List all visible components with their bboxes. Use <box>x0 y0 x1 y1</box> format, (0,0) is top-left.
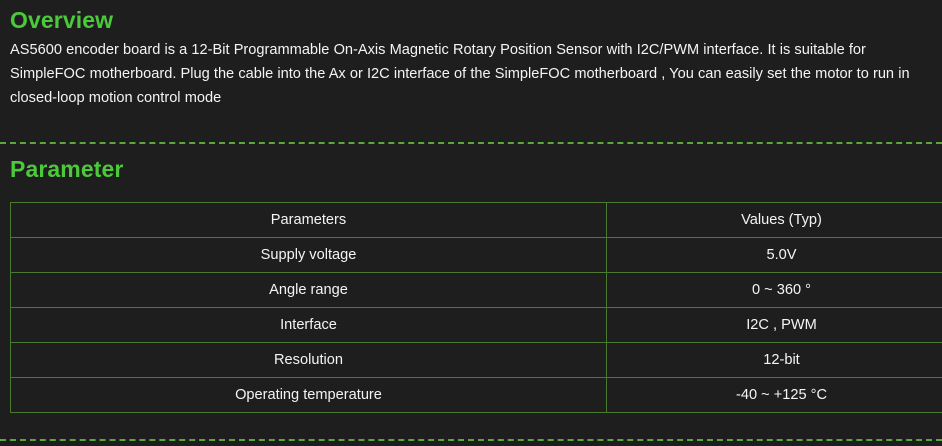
cell-parameter-value: 12-bit <box>607 343 942 378</box>
overview-section: Overview AS5600 encoder board is a 12-Bi… <box>0 0 942 110</box>
table-row: Angle range 0 ~ 360 ° <box>11 273 942 308</box>
product-spec-page: Overview AS5600 encoder board is a 12-Bi… <box>0 0 942 446</box>
cell-parameter-name: Operating temperature <box>11 378 607 413</box>
table-row: Supply voltage 5.0V <box>11 238 942 273</box>
column-header-parameters: Parameters <box>11 203 607 238</box>
section-divider-bottom <box>0 439 942 441</box>
table-row: Resolution 12-bit <box>11 343 942 378</box>
table-row: Operating temperature -40 ~ +125 °C <box>11 378 942 413</box>
cell-parameter-name: Supply voltage <box>11 238 607 273</box>
table-row: Interface I2C , PWM <box>11 308 942 343</box>
cell-parameter-name: Angle range <box>11 273 607 308</box>
parameter-heading: Parameter <box>10 143 942 182</box>
cell-parameter-value: 5.0V <box>607 238 942 273</box>
overview-description: AS5600 encoder board is a 12-Bit Program… <box>10 33 932 110</box>
cell-parameter-name: Interface <box>11 308 607 343</box>
table-header-row: Parameters Values (Typ) <box>11 203 942 238</box>
parameter-table: Parameters Values (Typ) Supply voltage 5… <box>10 202 942 413</box>
parameter-section: Parameter <box>0 143 942 182</box>
parameter-table-wrap: Parameters Values (Typ) Supply voltage 5… <box>10 202 930 413</box>
cell-parameter-value: I2C , PWM <box>607 308 942 343</box>
overview-heading: Overview <box>10 0 932 33</box>
cell-parameter-name: Resolution <box>11 343 607 378</box>
table-head: Parameters Values (Typ) <box>11 203 942 238</box>
cell-parameter-value: -40 ~ +125 °C <box>607 378 942 413</box>
table-body: Supply voltage 5.0V Angle range 0 ~ 360 … <box>11 238 942 413</box>
cell-parameter-value: 0 ~ 360 ° <box>607 273 942 308</box>
column-header-values: Values (Typ) <box>607 203 942 238</box>
